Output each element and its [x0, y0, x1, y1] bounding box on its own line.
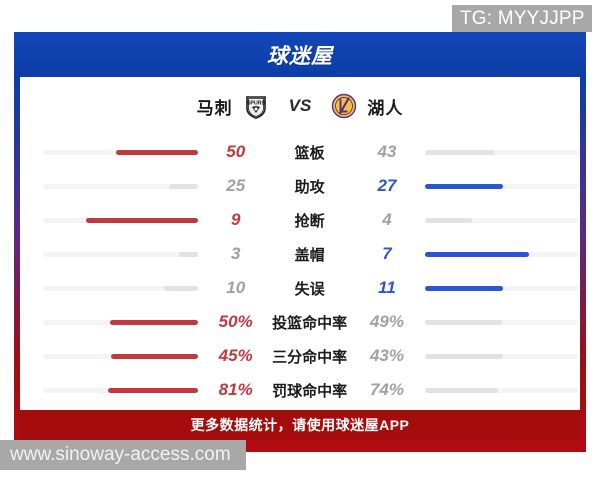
home-bar-track [43, 388, 198, 393]
home-stat-value: 50% [204, 312, 267, 332]
home-bar-track [43, 218, 198, 223]
stat-row: 50%投篮命中率49% [22, 305, 578, 339]
stat-label: 罚球命中率 [267, 380, 352, 401]
away-bar-fill [425, 388, 498, 393]
matchup-header: 马刺 SPURS VS 湖人 [20, 77, 580, 135]
svg-text:SPURS: SPURS [247, 101, 265, 107]
away-bar-track [425, 218, 578, 223]
away-bar-track [425, 388, 578, 393]
stats-card: 球迷屋 马刺 SPURS VS [14, 32, 586, 452]
home-stat-value: 3 [204, 244, 267, 264]
stats-content-panel: 马刺 SPURS VS 湖人 [20, 77, 580, 410]
home-bar-fill [169, 184, 198, 189]
home-bar-track [43, 286, 198, 291]
away-bar-fill [425, 184, 503, 189]
stat-label: 失误 [267, 278, 352, 299]
home-bar-track [43, 184, 198, 189]
away-stat-value: 7 [358, 244, 416, 264]
home-stat-value: 10 [204, 278, 267, 298]
away-stat-value: 4 [358, 210, 416, 230]
away-bar-fill [425, 286, 503, 291]
footer-promo-text: 更多数据统计，请使用球迷屋APP [191, 415, 410, 435]
stat-row: 3盖帽7 [22, 237, 578, 271]
away-bar-fill [425, 252, 529, 257]
home-stat-value: 45% [204, 346, 267, 366]
home-bar-track [43, 354, 198, 359]
away-stat-value: 27 [358, 176, 416, 196]
stat-row: 50篮板43 [22, 135, 578, 169]
telegram-watermark: TG: MYYJJPP [452, 5, 592, 32]
home-stat-value: 25 [204, 176, 267, 196]
home-bar-fill [116, 150, 198, 155]
home-stat-value: 9 [204, 210, 267, 230]
stat-label: 抢断 [267, 210, 352, 231]
away-stat-value: 74% [358, 380, 416, 400]
away-stat-value: 43% [358, 346, 416, 366]
away-stat-value: 11 [358, 278, 416, 298]
home-bar-fill [108, 388, 198, 393]
away-bar-track [425, 320, 578, 325]
card-footer-band: 更多数据统计，请使用球迷屋APP [20, 410, 580, 440]
vs-label: VS [289, 96, 312, 116]
stat-row: 10失误11 [22, 271, 578, 305]
home-bar-fill [164, 286, 198, 291]
away-bar-fill [425, 218, 472, 223]
stats-rows-container: 50篮板4325助攻279抢断43盖帽710失误1150%投篮命中率49%45%… [20, 135, 580, 407]
home-bar-track [43, 150, 198, 155]
stat-row: 25助攻27 [22, 169, 578, 203]
stat-row: 9抢断4 [22, 203, 578, 237]
away-bar-track [425, 286, 578, 291]
stat-row: 45%三分命中率43% [22, 339, 578, 373]
away-bar-fill [425, 354, 503, 359]
home-team-name: 马刺 [197, 94, 233, 119]
home-bar-track [43, 252, 198, 257]
away-stat-value: 49% [358, 312, 416, 332]
stat-label: 盖帽 [267, 244, 352, 265]
stat-row: 81%罚球命中率74% [22, 373, 578, 407]
home-stat-value: 50 [204, 142, 267, 162]
home-bar-fill [111, 354, 198, 359]
home-bar-fill [110, 320, 198, 325]
away-team-name: 湖人 [367, 94, 403, 119]
away-stat-value: 43 [358, 142, 416, 162]
stat-label: 三分命中率 [267, 346, 352, 367]
brand-logo: 球迷屋 [267, 40, 333, 70]
stat-label: 篮板 [267, 142, 352, 163]
away-bar-fill [425, 150, 495, 155]
away-bar-track [425, 184, 578, 189]
stat-label: 助攻 [267, 176, 352, 197]
away-bar-track [425, 354, 578, 359]
home-bar-fill [86, 218, 198, 223]
home-stat-value: 81% [204, 380, 267, 400]
card-header-band: 球迷屋 [14, 32, 586, 77]
away-bar-track [425, 252, 578, 257]
away-bar-track [425, 150, 578, 155]
home-bar-track [43, 320, 198, 325]
stat-label: 投篮命中率 [267, 312, 352, 333]
home-bar-fill [179, 252, 198, 257]
site-watermark: www.sinoway-access.com [0, 440, 246, 470]
away-bar-fill [425, 320, 502, 325]
spurs-logo-icon: SPURS [243, 93, 269, 119]
lakers-logo-icon [331, 93, 357, 119]
